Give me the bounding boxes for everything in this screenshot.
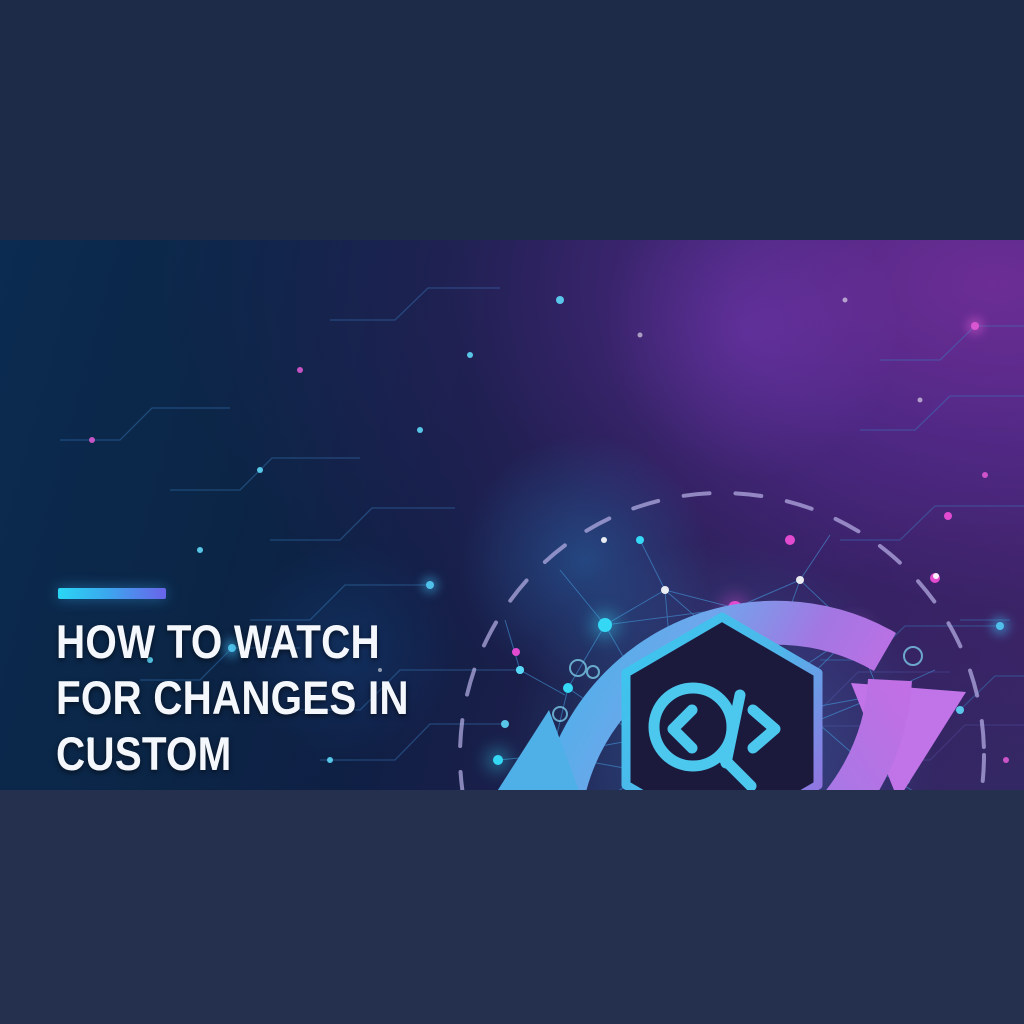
title-accent-bar (58, 588, 166, 599)
poster-canvas: HOW TO WATCH FOR CHANGES IN CUSTOM RESOU… (0, 0, 1024, 1024)
frame-top-letterbox (0, 0, 1024, 240)
banner-background: HOW TO WATCH FOR CHANGES IN CUSTOM RESOU… (0, 240, 1024, 790)
page-title: HOW TO WATCH FOR CHANGES IN CUSTOM RESOU… (56, 614, 426, 790)
banner: HOW TO WATCH FOR CHANGES IN CUSTOM RESOU… (0, 240, 1024, 790)
frame-bottom-letterbox (0, 790, 1024, 1024)
